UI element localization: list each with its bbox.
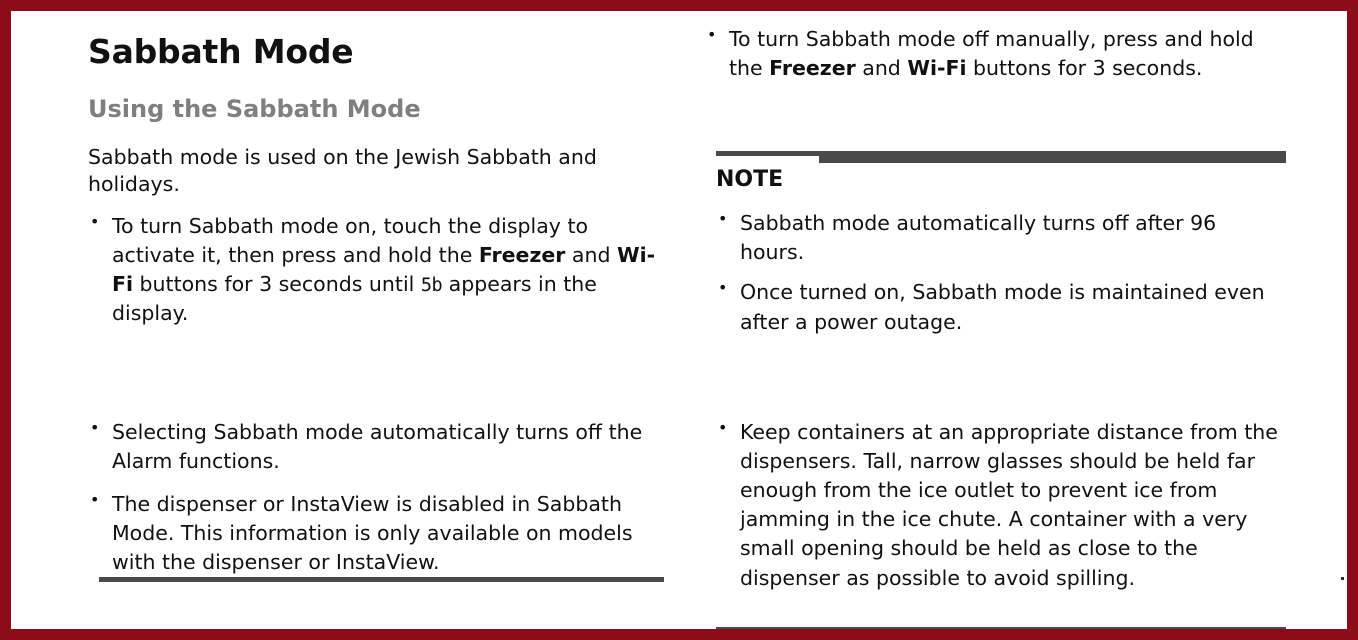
list-item-text: and	[856, 56, 908, 80]
left-column-divider	[99, 577, 664, 582]
list-item-text: Sabbath mode automatically turns off aft…	[740, 211, 1216, 264]
left-column: Sabbath Mode Using the Sabbath Mode Sabb…	[88, 11, 664, 629]
note-bar-thin-segment	[716, 151, 819, 156]
intro-paragraph: Sabbath mode is used on the Jewish Sabba…	[88, 124, 664, 198]
list-item: The dispenser or InstaView is disabled i…	[88, 490, 664, 577]
list-item: Sabbath mode automatically turns off aft…	[716, 209, 1286, 267]
list-item-text: Selecting Sabbath mode automatically tur…	[112, 420, 642, 473]
list-item: Keep containers at an appropriate distan…	[716, 418, 1291, 593]
list-item-text: Once turned on, Sabbath mode is maintain…	[740, 280, 1265, 333]
page-mark-artifact	[1341, 577, 1344, 580]
right-bullet-list-bottom: Keep containers at an appropriate distan…	[716, 404, 1291, 593]
note-callout: NOTE Sabbath mode automatically turns of…	[716, 151, 1286, 337]
page-content: Sabbath Mode Using the Sabbath Mode Sabb…	[11, 11, 1347, 629]
list-item: Once turned on, Sabbath mode is maintain…	[716, 278, 1286, 336]
emphasis-text: Freezer	[479, 243, 566, 267]
right-bullet-list-top: To turn Sabbath mode off manually, press…	[705, 25, 1285, 83]
note-bar	[716, 151, 1286, 163]
note-bar-thick-segment	[819, 151, 1286, 163]
list-item-text: buttons for 3 seconds.	[967, 56, 1203, 80]
right-column-divider	[716, 627, 1286, 629]
page-border: Sabbath Mode Using the Sabbath Mode Sabb…	[0, 0, 1358, 640]
section-heading: Using the Sabbath Mode	[88, 70, 664, 124]
left-bullet-list-top: To turn Sabbath mode on, touch the displ…	[88, 212, 664, 329]
list-item-text: Keep containers at an appropriate distan…	[740, 420, 1278, 590]
list-item-text: buttons for 3 seconds until	[133, 272, 421, 296]
right-column: To turn Sabbath mode off manually, press…	[705, 11, 1285, 629]
list-item: Selecting Sabbath mode automatically tur…	[88, 418, 664, 476]
note-bullet-list: Sabbath mode automatically turns off aft…	[716, 192, 1286, 336]
two-column-layout: Sabbath Mode Using the Sabbath Mode Sabb…	[11, 11, 1347, 629]
page-title: Sabbath Mode	[88, 11, 664, 70]
list-item-text: The dispenser or InstaView is disabled i…	[112, 492, 633, 574]
left-bullet-list-bottom: Selecting Sabbath mode automatically tur…	[88, 404, 664, 578]
display-code-text: 5b	[421, 275, 442, 296]
emphasis-text: Freezer	[769, 56, 856, 80]
list-item: To turn Sabbath mode off manually, press…	[705, 25, 1285, 83]
list-item: To turn Sabbath mode on, touch the displ…	[88, 212, 664, 329]
emphasis-text: Wi-Fi	[907, 56, 966, 80]
list-item-text: and	[565, 243, 617, 267]
note-heading: NOTE	[716, 163, 1286, 192]
